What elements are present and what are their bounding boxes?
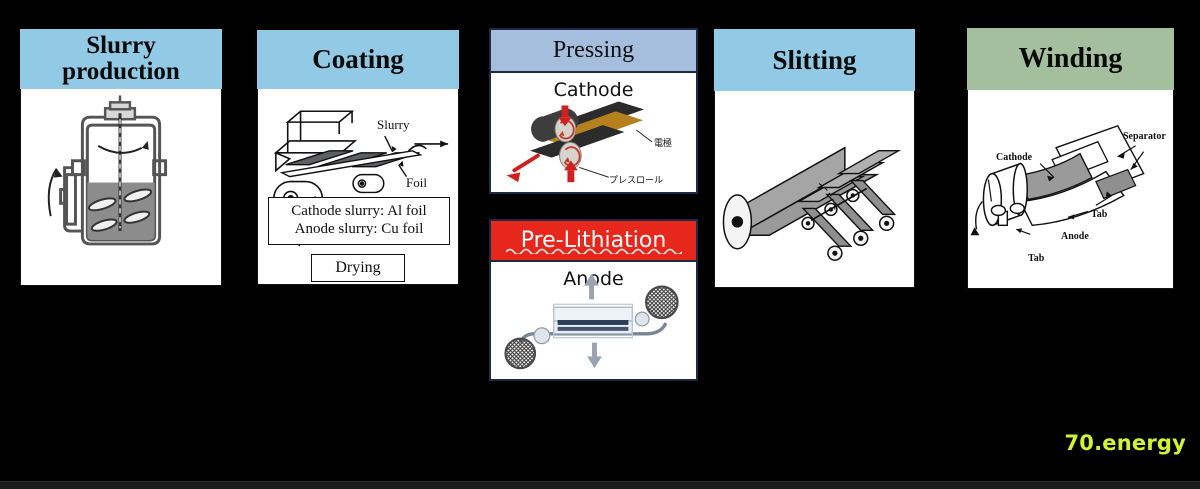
panel-title-winding: Winding (1019, 44, 1123, 73)
winding-label-tab-right: Tab (1091, 209, 1107, 220)
watermark-70-energy: 70.energy (1064, 431, 1186, 455)
panel-winding: Winding (967, 28, 1174, 289)
winding-label-anode: Anode (1061, 231, 1089, 242)
pressing-label-electrode: 電極 (654, 136, 672, 149)
coating-label-foil: Foil (406, 175, 427, 191)
panel-title-line2: production (62, 59, 180, 85)
panel-coating: Coating (257, 30, 459, 285)
coating-callout-line2: Anode slurry: Cu foil (295, 221, 424, 239)
coating-callout-line1: Cathode slurry: Al foil (291, 203, 426, 221)
panel-title-slitting: Slitting (772, 46, 856, 74)
panel-header-slitting: Slitting (714, 29, 915, 91)
figure-canvas: Slurry production (0, 0, 1200, 489)
roll-to-roll-prelithiation-icon (491, 262, 696, 379)
panel-header-winding: Winding (967, 28, 1174, 90)
coating-drying-label: Drying (335, 259, 380, 278)
bottom-bar (0, 481, 1200, 489)
panel-header-slurry-production: Slurry production (20, 29, 222, 89)
panel-body-slurry-production (20, 89, 222, 286)
winding-label-tab-left: Tab (1028, 253, 1044, 264)
panel-header-pressing: Pressing (489, 28, 698, 73)
coating-callout-box: Cathode slurry: Al foil Anode slurry: Cu… (268, 197, 450, 245)
panel-body-winding: Separator Cathode Tab Anode Tab (967, 90, 1174, 289)
panel-body-coating: Slurry Foil Cathode slurry: Al foil Anod… (257, 89, 459, 285)
panel-pre-lithiation: Pre-Lithiation Anode (489, 219, 698, 383)
coating-label-slurry: Slurry (377, 117, 410, 133)
panel-header-pre-lithiation: Pre-Lithiation (489, 219, 698, 262)
panel-title-pressing: Pressing (553, 38, 634, 63)
panel-body-slitting (714, 91, 915, 288)
mixing-vessel-icon (21, 89, 221, 285)
winding-label-separator: Separator (1123, 131, 1166, 142)
panel-slurry-production: Slurry production (20, 29, 222, 286)
panel-pressing: Pressing Cathode (489, 28, 698, 194)
panel-header-coating: Coating (257, 30, 459, 89)
panel-body-pressing: Cathode (489, 73, 698, 194)
panel-title-line1: Slurry (62, 33, 180, 59)
spellcheck-underline-icon (506, 247, 682, 254)
panel-slitting: Slitting (714, 29, 915, 288)
winding-label-cathode: Cathode (996, 152, 1032, 163)
panel-body-pre-lithiation: Anode (489, 262, 698, 381)
jelly-roll-winding-icon (968, 90, 1173, 288)
panel-title-coating: Coating (312, 45, 404, 73)
slitting-rolls-icon (715, 91, 914, 287)
coating-drying-box: Drying (311, 254, 405, 282)
calender-press-icon (491, 73, 696, 192)
pressing-label-press-roll: プレスロール (609, 173, 663, 186)
